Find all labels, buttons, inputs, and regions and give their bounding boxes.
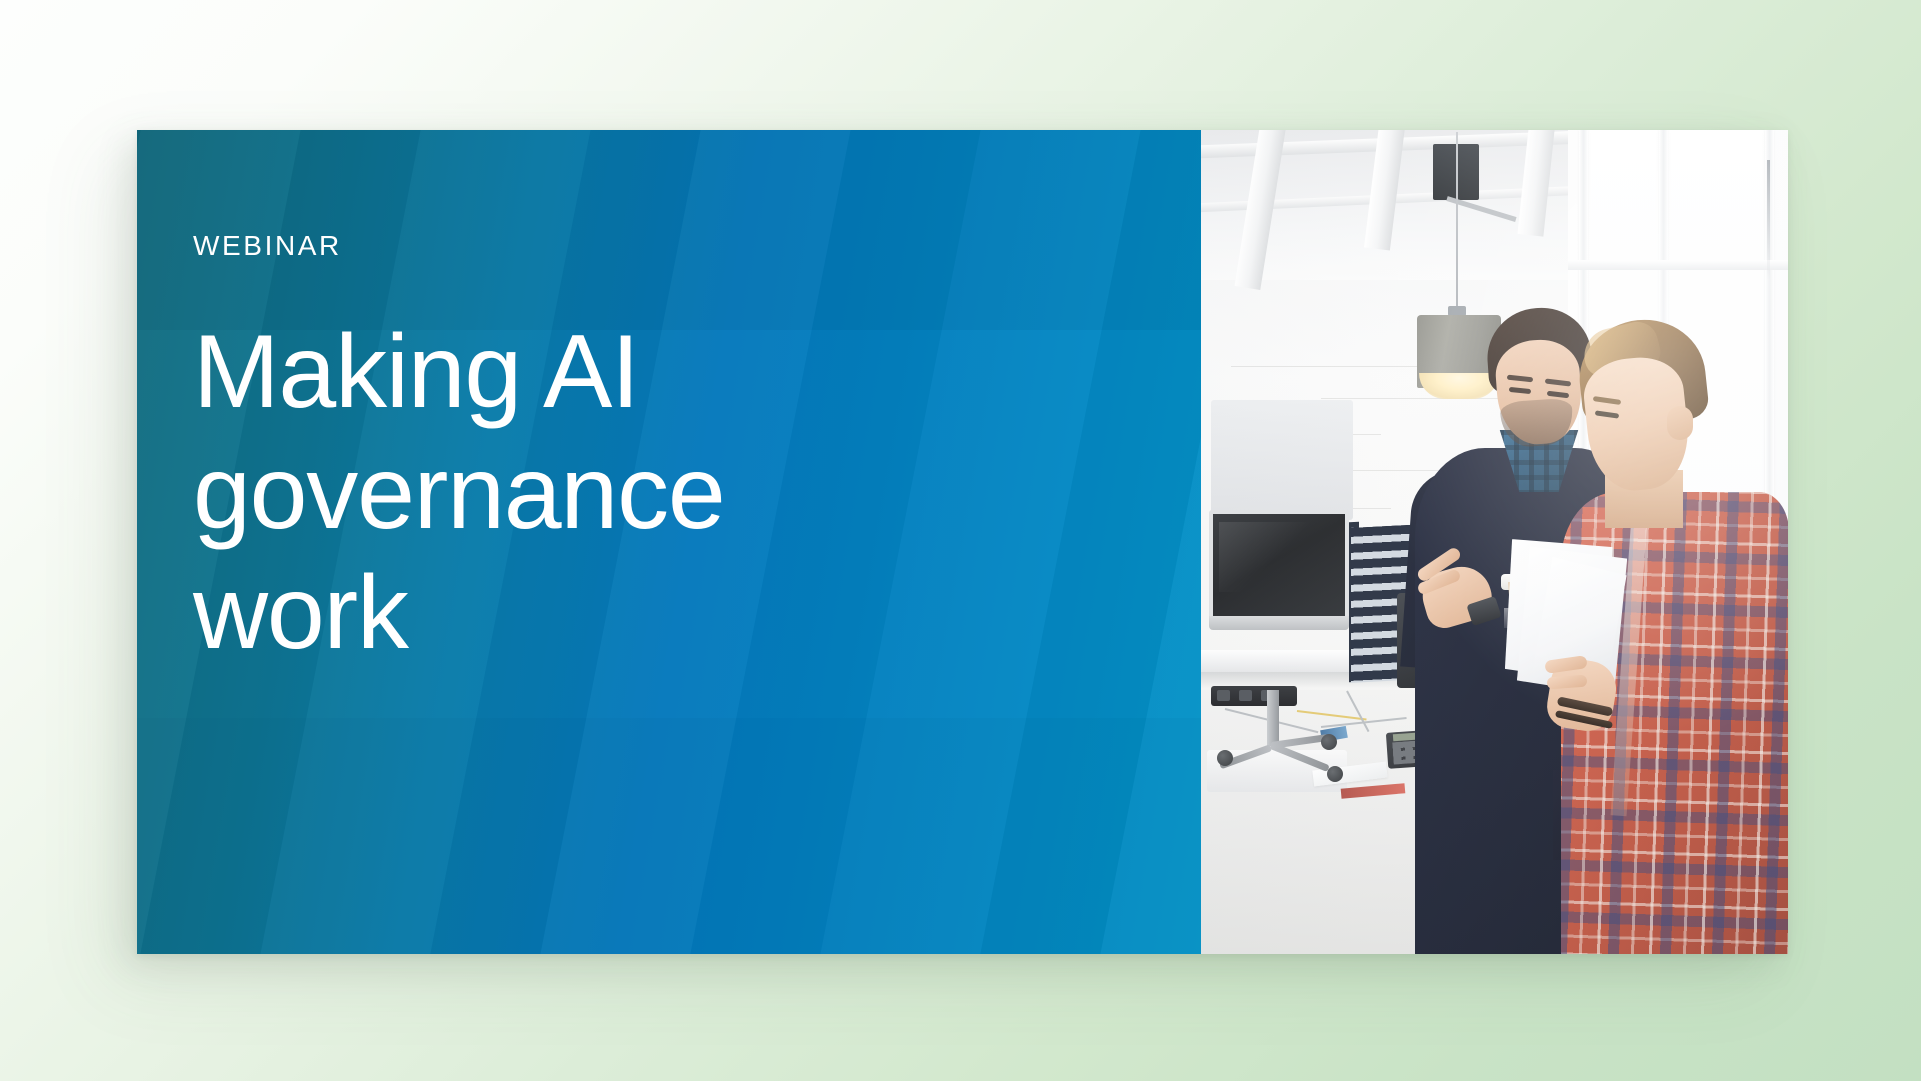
card-left-panel: WEBINAR Making AI governance work [137, 130, 1201, 954]
page-title: Making AI governance work [193, 312, 1013, 674]
office-photo [1201, 130, 1788, 954]
webinar-promo-card[interactable]: WEBINAR Making AI governance work [137, 130, 1788, 954]
tone-band-bottom [137, 718, 1201, 954]
eyebrow-label: WEBINAR [193, 232, 1013, 260]
headline-block: WEBINAR Making AI governance work [193, 232, 1013, 674]
card-photo-panel [1201, 130, 1788, 954]
photo-lighting-overlay [1201, 130, 1788, 954]
page-background: WEBINAR Making AI governance work [0, 0, 1921, 1081]
